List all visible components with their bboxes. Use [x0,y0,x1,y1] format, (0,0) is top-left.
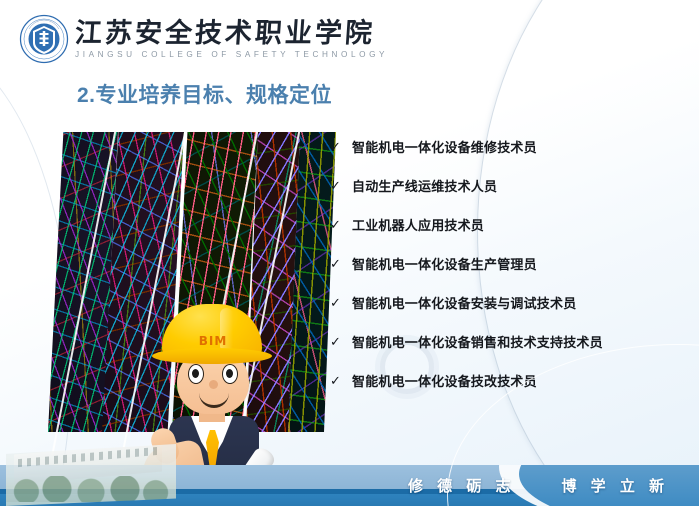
list-item: ✓ 工业机器人应用技术员 [330,216,690,255]
smile-mouth [199,392,229,408]
list-item-label: 智能机电一体化设备技改技术员 [352,372,537,392]
list-item-label: 自动生产线运维技术人员 [352,177,497,197]
presentation-slide: ··· ·· 江苏安全技术职业学院 JIANGSU COLLEGE OF SAF… [0,0,699,506]
check-icon: ✓ [330,138,352,158]
check-icon: ✓ [330,255,352,275]
helmet-label: BIM [191,334,235,348]
hard-hat-brim [152,348,272,364]
college-name-en: JIANGSU COLLEGE OF SAFETY TECHNOLOGY [75,50,388,59]
check-icon: ✓ [330,294,352,314]
svg-text:·: · [38,21,39,25]
university-seal-icon: ··· ·· [19,14,69,64]
list-item-label: 智能机电一体化设备销售和技术支持技术员 [352,333,603,353]
check-icon: ✓ [330,333,352,353]
check-icon: ✓ [330,216,352,236]
college-name-cn: 江苏安全技术职业学院 [74,18,389,48]
page-title: 2.专业培养目标、规格定位 [77,79,332,109]
list-item-label: 智能机电一体化设备生产管理员 [352,255,537,275]
campus-building-photo [6,444,176,506]
college-logo-text: 江苏安全技术职业学院 JIANGSU COLLEGE OF SAFETY TEC… [75,18,388,59]
list-item-label: 工业机器人应用技术员 [352,216,484,236]
list-item: ✓ 智能机电一体化设备安装与调试技术员 [330,294,690,333]
check-icon: ✓ [330,177,352,197]
svg-text:·: · [44,20,45,24]
list-item-label: 智能机电一体化设备安装与调试技术员 [352,294,576,314]
campus-trees [6,476,176,502]
list-item: ✓ 智能机电一体化设备生产管理员 [330,255,690,294]
list-item: ✓ 智能机电一体化设备维修技术员 [330,138,690,177]
slide-header: ··· ·· 江苏安全技术职业学院 JIANGSU COLLEGE OF SAF… [0,0,699,66]
eye-right [222,364,238,384]
nose [209,380,218,389]
svg-text:·: · [50,21,51,25]
list-item: ✓ 自动生产线运维技术人员 [330,177,690,216]
eye-left [188,364,204,384]
svg-text:·: · [55,23,56,27]
svg-text:·: · [33,23,34,27]
list-item-label: 智能机电一体化设备维修技术员 [352,138,537,158]
bim-illustration: BIM [40,132,335,432]
check-icon: ✓ [330,372,352,392]
